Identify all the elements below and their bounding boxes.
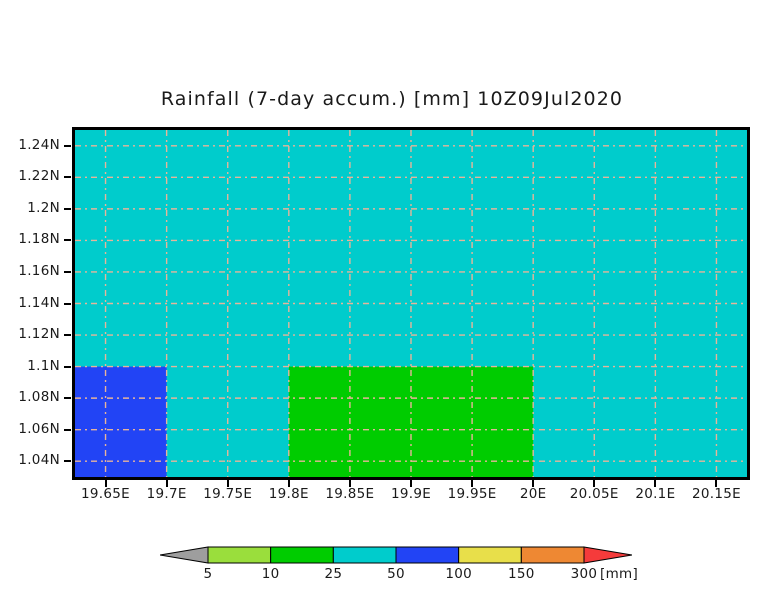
rainfall-field xyxy=(75,130,747,477)
colorbar xyxy=(160,545,632,567)
y-axis-tick-label: 1.08N xyxy=(0,389,60,405)
plot-area xyxy=(72,127,750,480)
colorbar-segment-150-to-300 xyxy=(521,547,584,563)
y-axis-tickmark xyxy=(64,271,71,273)
colorbar-segment-under-5 xyxy=(160,547,208,563)
colorbar-segment-100-to-150 xyxy=(459,547,522,563)
colorbar-segment-over-300 xyxy=(584,547,632,563)
x-axis-tickmark xyxy=(715,480,717,487)
y-axis-tick-label: 1.14N xyxy=(0,295,60,311)
x-axis-tickmark xyxy=(654,480,656,487)
y-axis-tick-label: 1.18N xyxy=(0,231,60,247)
y-axis-tickmark xyxy=(64,145,71,147)
colorbar-segment-5-to-10 xyxy=(208,547,271,563)
y-axis-tickmark xyxy=(64,460,71,462)
y-axis-tickmark xyxy=(64,208,71,210)
y-axis-tick-label: 1.12N xyxy=(0,326,60,342)
x-axis-tickmark xyxy=(532,480,534,487)
colorbar-segment-25-to-50 xyxy=(333,547,396,563)
x-axis-tickmark xyxy=(105,480,107,487)
x-axis-tickmark xyxy=(410,480,412,487)
y-axis-tick-label: 1.22N xyxy=(0,168,60,184)
y-axis-tick-label: 1.24N xyxy=(0,137,60,153)
x-axis-tickmark xyxy=(471,480,473,487)
y-axis-tickmark xyxy=(64,303,71,305)
y-axis-tick-label: 1.06N xyxy=(0,421,60,437)
x-axis-tickmark xyxy=(593,480,595,487)
chart-title: Rainfall (7-day accum.) [mm] 10Z09Jul202… xyxy=(0,88,784,110)
y-axis-tickmark xyxy=(64,429,71,431)
colorbar-segment-10-to-25 xyxy=(271,547,334,563)
x-axis-tickmark xyxy=(349,480,351,487)
y-axis-tick-label: 1.1N xyxy=(0,358,60,374)
y-axis-tickmark xyxy=(64,334,71,336)
y-axis-tick-label: 1.04N xyxy=(0,452,60,468)
y-axis-tick-label: 1.2N xyxy=(0,200,60,216)
y-axis-tickmark xyxy=(64,397,71,399)
blue-patch-west xyxy=(75,367,167,477)
y-axis-tickmark xyxy=(64,239,71,241)
y-axis-tickmark xyxy=(64,366,71,368)
x-axis-tick-label: 20.15E xyxy=(676,486,756,502)
y-axis-tick-label: 1.16N xyxy=(0,263,60,279)
x-axis-tickmark xyxy=(166,480,168,487)
colorbar-segment-50-to-100 xyxy=(396,547,459,563)
colorbar-unit-label: [mm] xyxy=(600,566,638,582)
x-axis-tickmark xyxy=(288,480,290,487)
x-axis-tickmark xyxy=(227,480,229,487)
y-axis-tickmark xyxy=(64,176,71,178)
